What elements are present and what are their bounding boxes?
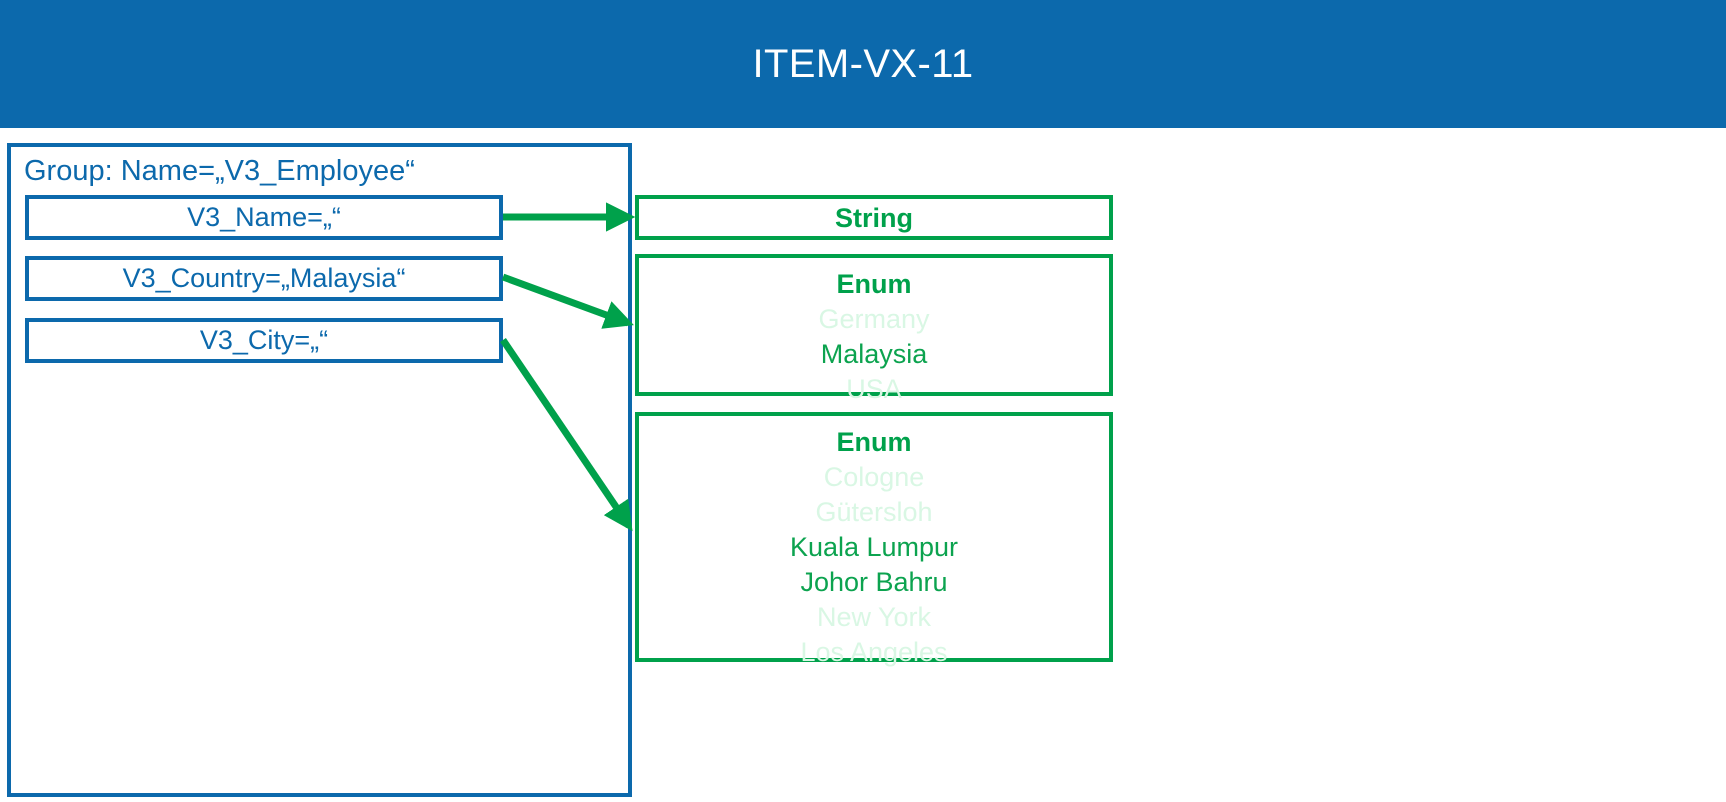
type-title-city-enum: Enum: [639, 424, 1109, 460]
type-box-city-enum[interactable]: Enum Cologne Gütersloh Kuala Lumpur Joho…: [635, 412, 1113, 662]
type-box-country-enum[interactable]: Enum Germany Malaysia USA: [635, 254, 1113, 396]
diagram-canvas: ITEM-VX-11 Group: Name=„V3_Employee“ V3_…: [0, 0, 1726, 802]
type-title-country-enum: Enum: [639, 266, 1109, 302]
enum-item-new-york[interactable]: New York: [639, 600, 1109, 635]
field-box-v3-name[interactable]: V3_Name=„“: [25, 195, 503, 240]
enum-item-kuala-lumpur[interactable]: Kuala Lumpur: [639, 530, 1109, 565]
group-label: Group: Name=„V3_Employee“: [24, 155, 415, 188]
field-box-v3-city[interactable]: V3_City=„“: [25, 318, 503, 363]
enum-item-johor-bahru[interactable]: Johor Bahru: [639, 565, 1109, 600]
field-box-v3-country[interactable]: V3_Country=„Malaysia“: [25, 256, 503, 301]
enum-item-germany[interactable]: Germany: [639, 302, 1109, 337]
page-title: ITEM-VX-11: [0, 0, 1726, 128]
enum-item-guetersloh[interactable]: Gütersloh: [639, 495, 1109, 530]
enum-item-usa[interactable]: USA: [639, 372, 1109, 407]
enum-item-los-angeles[interactable]: Los Angeles: [639, 635, 1109, 670]
enum-item-malaysia[interactable]: Malaysia: [639, 337, 1109, 372]
enum-item-cologne[interactable]: Cologne: [639, 460, 1109, 495]
group-panel: [7, 143, 632, 797]
type-box-string[interactable]: String: [635, 195, 1113, 240]
type-title-string: String: [835, 200, 913, 236]
